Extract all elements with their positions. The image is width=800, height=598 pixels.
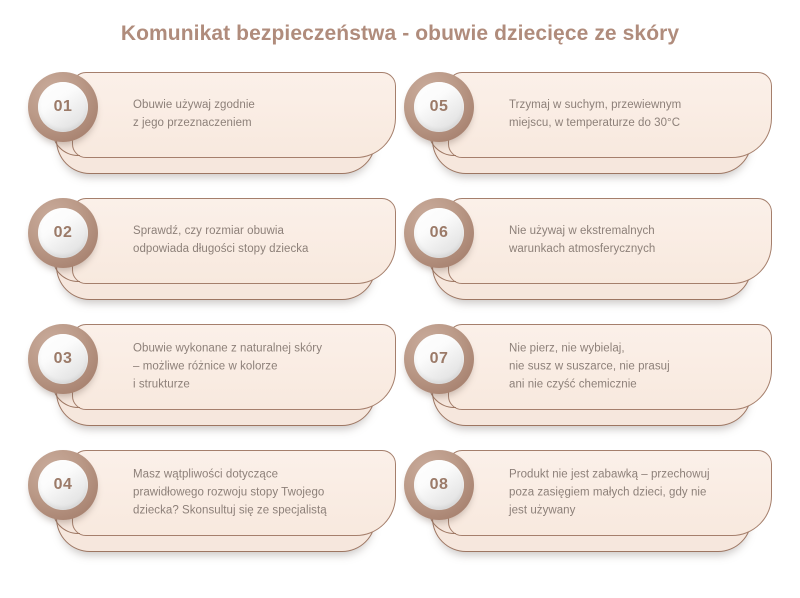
card-text: Nie używaj w ekstremalnych warunkach atm… (509, 223, 757, 259)
card-number-badge: 04 (28, 450, 98, 520)
badge-inner-circle: 01 (38, 82, 88, 132)
badge-number: 08 (430, 476, 449, 494)
card-panel: Nie pierz, nie wybielaj, nie susz w susz… (448, 324, 772, 410)
card-text: Obuwie używaj zgodnie z jego przeznaczen… (133, 97, 381, 133)
safety-card: Obuwie używaj zgodnie z jego przeznaczen… (28, 68, 396, 178)
card-panel: Obuwie używaj zgodnie z jego przeznaczen… (72, 72, 396, 158)
card-text: Nie pierz, nie wybielaj, nie susz w susz… (509, 340, 757, 393)
card-panel: Nie używaj w ekstremalnych warunkach atm… (448, 198, 772, 284)
safety-card: Trzymaj w suchym, przewiewnym miejscu, w… (404, 68, 772, 178)
badge-number: 07 (430, 350, 449, 368)
safety-card: Produkt nie jest zabawką – przechowuj po… (404, 446, 772, 556)
infographic-page: Komunikat bezpieczeństwa - obuwie dzieci… (0, 0, 800, 598)
page-title: Komunikat bezpieczeństwa - obuwie dzieci… (0, 22, 800, 46)
safety-notice-grid: Obuwie używaj zgodnie z jego przeznaczen… (28, 68, 772, 556)
card-number-badge: 05 (404, 72, 474, 142)
card-number-badge: 07 (404, 324, 474, 394)
card-number-badge: 03 (28, 324, 98, 394)
badge-inner-circle: 02 (38, 208, 88, 258)
card-text: Produkt nie jest zabawką – przechowuj po… (509, 466, 757, 519)
badge-number: 04 (54, 476, 73, 494)
badge-inner-circle: 08 (414, 460, 464, 510)
badge-number: 01 (54, 98, 73, 116)
badge-number: 06 (430, 224, 449, 242)
card-panel: Obuwie wykonane z naturalnej skóry – moż… (72, 324, 396, 410)
badge-inner-circle: 04 (38, 460, 88, 510)
badge-inner-circle: 03 (38, 334, 88, 384)
badge-number: 03 (54, 350, 73, 368)
card-number-badge: 08 (404, 450, 474, 520)
card-text: Trzymaj w suchym, przewiewnym miejscu, w… (509, 97, 757, 133)
card-text: Obuwie wykonane z naturalnej skóry – moż… (133, 340, 381, 393)
safety-card: Sprawdź, czy rozmiar obuwia odpowiada dł… (28, 194, 396, 304)
badge-inner-circle: 07 (414, 334, 464, 384)
card-text: Sprawdź, czy rozmiar obuwia odpowiada dł… (133, 223, 381, 259)
badge-number: 05 (430, 98, 449, 116)
card-number-badge: 02 (28, 198, 98, 268)
badge-inner-circle: 06 (414, 208, 464, 258)
safety-card: Masz wątpliwości dotyczące prawidłowego … (28, 446, 396, 556)
card-panel: Trzymaj w suchym, przewiewnym miejscu, w… (448, 72, 772, 158)
badge-number: 02 (54, 224, 73, 242)
card-number-badge: 06 (404, 198, 474, 268)
card-panel: Masz wątpliwości dotyczące prawidłowego … (72, 450, 396, 536)
card-text: Masz wątpliwości dotyczące prawidłowego … (133, 466, 381, 519)
safety-card: Nie pierz, nie wybielaj, nie susz w susz… (404, 320, 772, 430)
safety-card: Nie używaj w ekstremalnych warunkach atm… (404, 194, 772, 304)
safety-card: Obuwie wykonane z naturalnej skóry – moż… (28, 320, 396, 430)
card-panel: Sprawdź, czy rozmiar obuwia odpowiada dł… (72, 198, 396, 284)
card-panel: Produkt nie jest zabawką – przechowuj po… (448, 450, 772, 536)
card-number-badge: 01 (28, 72, 98, 142)
badge-inner-circle: 05 (414, 82, 464, 132)
